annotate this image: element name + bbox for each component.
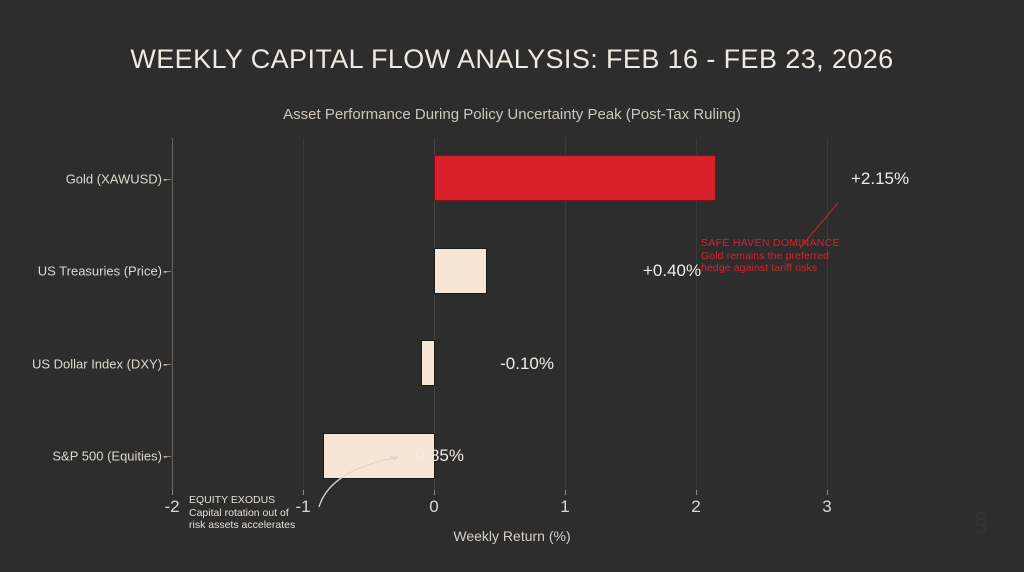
gridline-3 bbox=[827, 138, 828, 490]
capital-flow-chart-figure: WEEKLY CAPITAL FLOW ANALYSIS: FEB 16 - F… bbox=[0, 0, 1024, 572]
xtick-mark--1 bbox=[303, 490, 304, 495]
ytick-dash-treasuries: - bbox=[163, 264, 167, 279]
xtick-label--1: -1 bbox=[295, 497, 310, 517]
xtick-label-0: 0 bbox=[429, 497, 438, 517]
value-label-treasuries: +0.40% bbox=[643, 261, 701, 281]
xtick-mark-1 bbox=[565, 490, 566, 495]
x-axis-title: Weekly Return (%) bbox=[0, 528, 1024, 544]
xtick-mark-3 bbox=[827, 490, 828, 495]
xtick-label-2: 2 bbox=[691, 497, 700, 517]
xtick-label-1: 1 bbox=[560, 497, 569, 517]
xtick-mark--2 bbox=[172, 490, 173, 495]
annotation-safe-haven-line2: Gold remains the preferred bbox=[701, 250, 840, 263]
bar-us-treasuries[interactable] bbox=[434, 248, 487, 294]
chart-title: WEEKLY CAPITAL FLOW ANALYSIS: FEB 16 - F… bbox=[0, 44, 1024, 75]
ytick-label-treasuries: US Treasuries (Price) bbox=[38, 264, 162, 279]
bar-us-dollar-index[interactable] bbox=[421, 340, 435, 386]
xtick-mark-0 bbox=[434, 490, 435, 495]
annotation-safe-haven-heading: SAFE HAVEN DOMINANCE bbox=[701, 237, 840, 250]
ytick-dash-dxy: - bbox=[163, 357, 167, 372]
plot-area bbox=[172, 138, 966, 490]
ytick-label-gold: Gold (XAWUSD) bbox=[66, 172, 162, 187]
annotation-safe-haven: SAFE HAVEN DOMINANCE Gold remains the pr… bbox=[701, 237, 840, 275]
bar-gold[interactable] bbox=[434, 155, 716, 201]
ytick-label-sp500: S&P 500 (Equities) bbox=[52, 449, 162, 464]
xtick-label--2: -2 bbox=[164, 497, 179, 517]
annotation-equity-exodus-line2: Capital rotation out of bbox=[189, 507, 295, 520]
annotation-equity-exodus-heading: EQUITY EXODUS bbox=[189, 494, 295, 507]
y-axis-spine bbox=[172, 138, 173, 490]
xtick-mark-2 bbox=[696, 490, 697, 495]
value-label-dxy: -0.10% bbox=[500, 354, 554, 374]
chart-subtitle: Asset Performance During Policy Uncertai… bbox=[0, 106, 1024, 123]
value-label-sp500: -0.85% bbox=[410, 446, 464, 466]
value-label-gold: +2.15% bbox=[851, 169, 909, 189]
ytick-label-dxy: US Dollar Index (DXY) bbox=[32, 357, 162, 372]
ytick-dash-gold: - bbox=[163, 172, 167, 187]
ytick-dash-sp500: - bbox=[163, 449, 167, 464]
annotation-equity-exodus: EQUITY EXODUS Capital rotation out of ri… bbox=[189, 494, 295, 532]
xtick-label-3: 3 bbox=[822, 497, 831, 517]
gridline--1 bbox=[303, 138, 304, 490]
annotation-safe-haven-line3: hedge against tariff risks bbox=[701, 262, 840, 275]
watermark: § bbox=[968, 505, 994, 539]
annotation-equity-exodus-line3: risk assets accelerates bbox=[189, 519, 295, 532]
